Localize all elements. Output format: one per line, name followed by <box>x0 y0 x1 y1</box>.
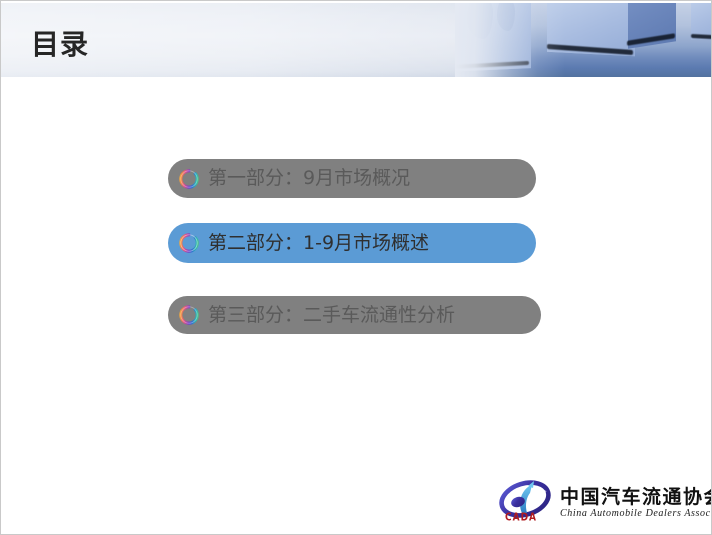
logo-chinese-name: 中国汽车流通协会 <box>560 482 712 509</box>
cube-scene-fade-mask <box>455 3 565 77</box>
logo-english-name: China Automobile Dealers Association <box>560 508 712 519</box>
toc-item-part-1[interactable]: 第一部分：9月市场概况 <box>168 159 536 198</box>
toc-item-label: 第三部分：二手车流通性分析 <box>208 306 455 325</box>
table-of-contents: 第一部分：9月市场概况 <box>1 1 712 535</box>
toc-item-label: 第二部分：1-9月市场概述 <box>208 234 429 253</box>
toc-item-part-2[interactable]: 第二部分：1-9月市场概述 <box>168 223 536 263</box>
rainbow-ring-icon <box>177 167 201 191</box>
toc-item-label: 第一部分：9月市场概况 <box>208 169 410 188</box>
organization-logo: CADA 中国汽车流通协会 China Automobile Dealers A… <box>498 477 703 529</box>
cada-mark-text: CADA <box>505 512 537 524</box>
rainbow-ring-icon <box>177 231 201 255</box>
presentation-slide: 目录 <box>0 0 712 535</box>
rainbow-ring-icon <box>177 303 201 327</box>
toc-item-part-3[interactable]: 第三部分：二手车流通性分析 <box>168 296 541 334</box>
